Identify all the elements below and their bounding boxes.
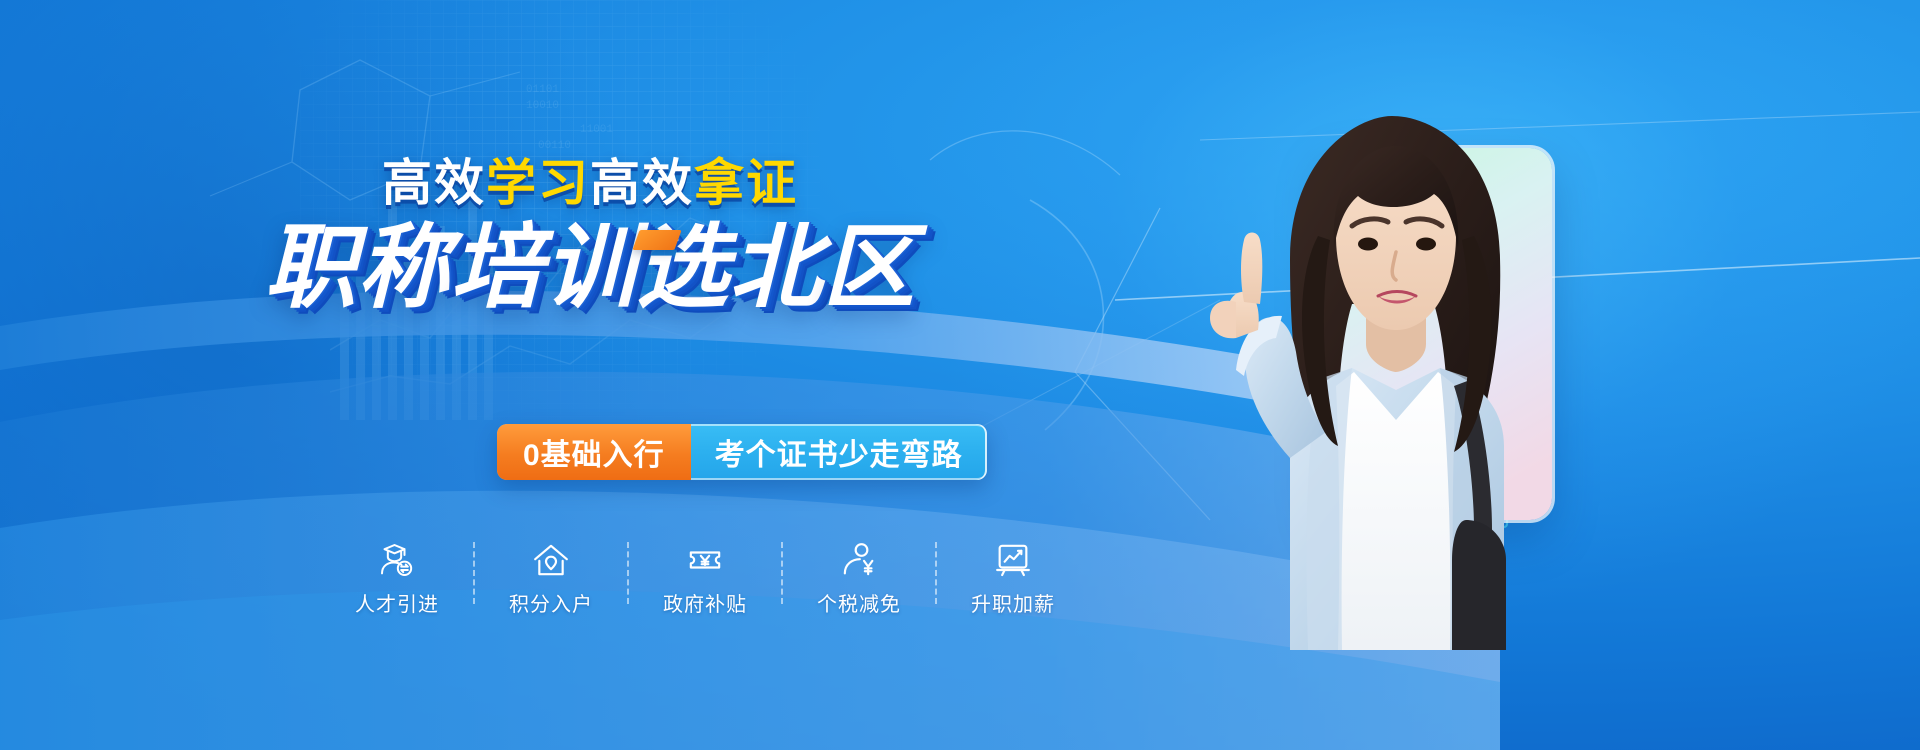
voucher-yuan-icon (685, 540, 725, 580)
headline-char-6: 北 (730, 222, 823, 314)
headline-char-7: 区 (823, 222, 916, 314)
feature-label: 积分入户 (509, 588, 593, 617)
feature-divider (473, 542, 475, 604)
instructor-photo (1140, 90, 1610, 650)
feature-item-government-subsidy[interactable]: 政府补贴 (638, 540, 772, 617)
headline-char-4: 训 (543, 222, 636, 314)
orange-accent-mark-icon (632, 230, 681, 250)
sub-headline-seg-4: 拿证 (694, 155, 798, 211)
person-yuan-icon (839, 540, 879, 580)
tagline-badge[interactable]: 0基础入行 考个证书少走弯路 (497, 424, 987, 480)
feature-divider (781, 542, 783, 604)
headline-char-2: 称 (357, 222, 450, 314)
feature-list: 人才引进 积分入户 (330, 540, 1080, 617)
feature-item-talent-import[interactable]: 人才引进 (330, 540, 464, 617)
sub-headline-seg-1: 高效 (382, 155, 486, 211)
headline-char-3: 培 (450, 222, 543, 314)
feature-divider (935, 542, 937, 604)
banner-copy: 高效学习高效拿证 职称培训选北区 0基础入行 考个证书少走弯路 (0, 0, 1180, 750)
feature-item-points-residency[interactable]: 积分入户 (484, 540, 618, 617)
growth-chart-board-icon (993, 540, 1033, 580)
graduate-person-icon (377, 540, 417, 580)
headline-char-1: 职 (264, 222, 357, 314)
feature-label: 升职加薪 (971, 588, 1055, 617)
main-headline: 职称培训选北区 (0, 222, 1180, 314)
sub-headline: 高效学习高效拿证 (0, 158, 1180, 208)
feature-divider (627, 542, 629, 604)
feature-label: 个税减免 (817, 588, 901, 617)
sub-headline-seg-2: 学习 (486, 155, 590, 211)
sub-headline-seg-3: 高效 (590, 155, 694, 211)
badge-right-label: 考个证书少走弯路 (691, 424, 987, 480)
feature-label: 政府补贴 (663, 588, 747, 617)
promo-banner: 01101 10010 11001 00110 10101 (0, 0, 1920, 750)
badge-left-label: 0基础入行 (497, 424, 691, 480)
feature-label: 人才引进 (355, 588, 439, 617)
house-location-icon (531, 540, 571, 580)
feature-item-promotion-raise[interactable]: 升职加薪 (946, 540, 1080, 617)
feature-item-tax-reduction[interactable]: 个税减免 (792, 540, 926, 617)
